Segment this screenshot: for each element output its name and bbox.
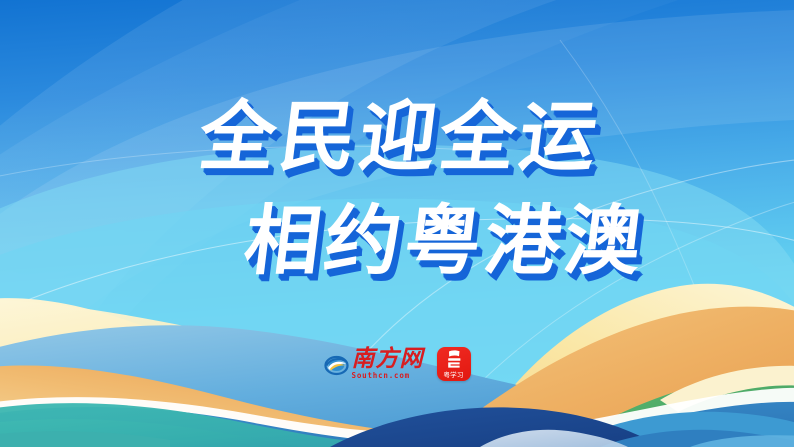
poster-canvas: 全民迎全运 相约粤港澳 南方网 Southcn.com 粤学习 [0,0,794,447]
book-flag-icon [437,348,471,372]
southcn-circle-swoosh-icon [324,353,349,378]
southcn-name-en: Southcn.com [352,371,410,381]
southcn-wordmark: 南方网 Southcn.com [352,348,424,381]
yuexuexi-app-logo[interactable]: 粤学习 [437,347,471,381]
logo-strip: 南方网 Southcn.com 粤学习 [0,347,794,381]
headline-line-1: 全民迎全运 [0,96,794,178]
yuexuexi-label: 粤学习 [437,372,471,379]
headline-line-2: 相约粤港澳 [0,200,794,282]
southcn-name-cn: 南方网 [352,348,424,371]
southcn-logo[interactable]: 南方网 Southcn.com [324,348,424,381]
